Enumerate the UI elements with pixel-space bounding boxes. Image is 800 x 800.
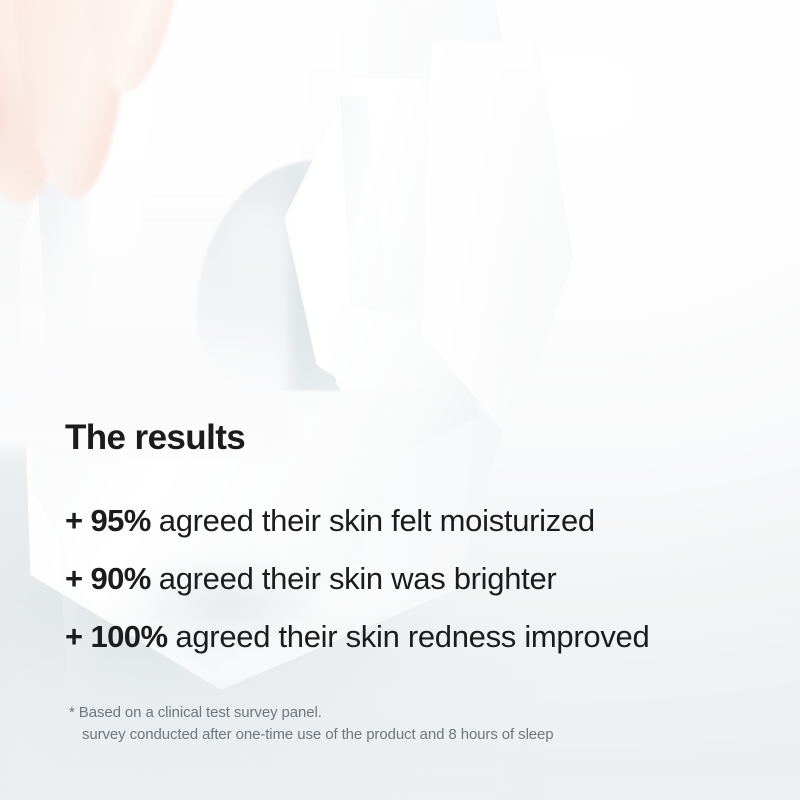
footnote-line-1: * Based on a clinical test survey panel. [69, 702, 554, 724]
stat-value: + 95% [65, 503, 159, 538]
stat-row: + 100% agreed their skin redness improve… [65, 608, 765, 666]
stat-row: + 90% agreed their skin was brighter [65, 550, 765, 608]
copy-overlay: The results + 95% agreed their skin felt… [0, 0, 800, 800]
stat-row: + 95% agreed their skin felt moisturized [65, 492, 765, 550]
footnote-line-2: survey conducted after one-time use of t… [69, 724, 554, 746]
results-stats-list: + 95% agreed their skin felt moisturized… [65, 492, 765, 666]
stat-value: + 90% [65, 561, 159, 596]
stat-value: + 100% [65, 619, 175, 654]
stat-label: agreed their skin felt moisturized [159, 503, 595, 538]
results-heading: The results [65, 418, 245, 458]
stat-label: agreed their skin was brighter [159, 561, 557, 596]
stat-label: agreed their skin redness improved [175, 619, 649, 654]
footnote: * Based on a clinical test survey panel.… [69, 702, 554, 746]
results-promo-card: The results + 95% agreed their skin felt… [0, 0, 800, 800]
